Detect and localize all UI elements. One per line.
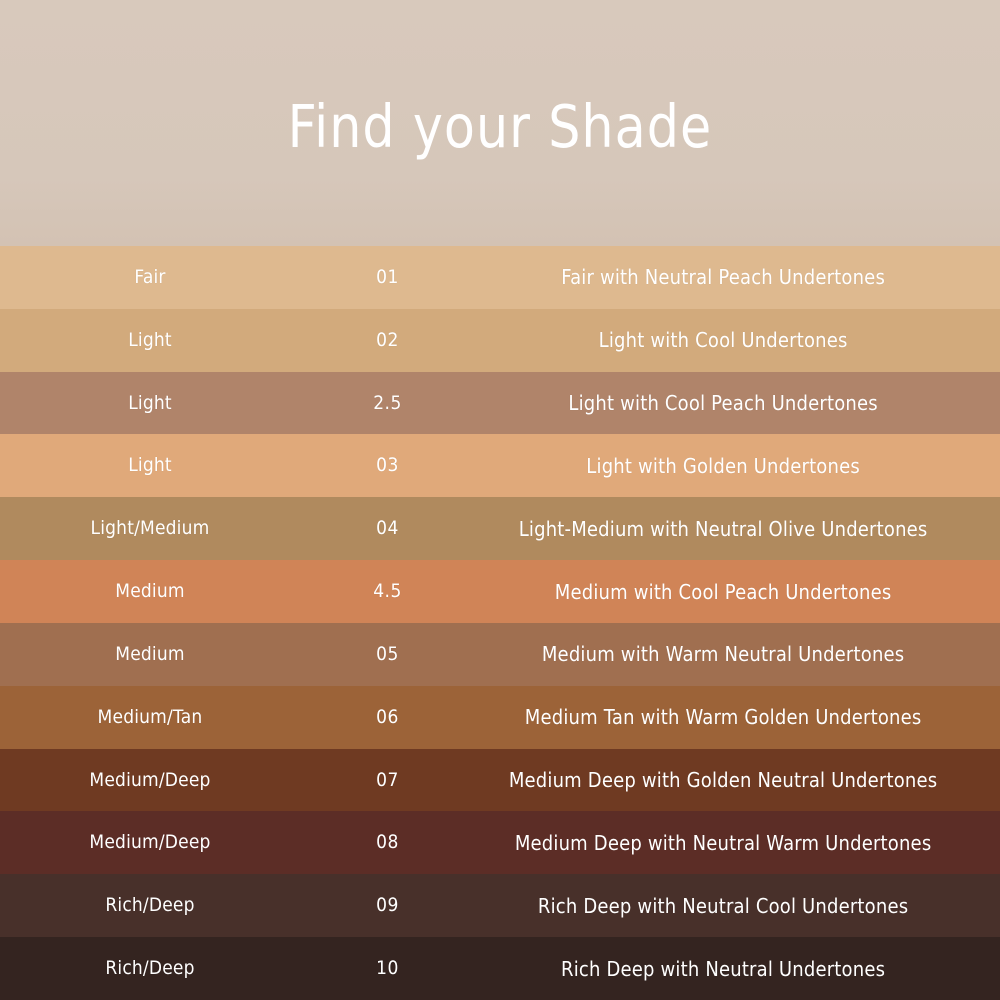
page-title: Find your Shade	[288, 91, 713, 156]
shade-row[interactable]: Medium/Tan06Medium Tan with Warm Golden …	[0, 686, 1000, 749]
shade-row[interactable]: Light2.5Light with Cool Peach Undertones	[0, 372, 1000, 435]
shade-depth-label: Light	[15, 331, 285, 350]
shade-depth-label: Light	[15, 394, 285, 413]
shade-number: 08	[309, 833, 467, 852]
shade-number: 04	[309, 519, 467, 538]
shade-depth-label: Medium	[15, 582, 285, 601]
shade-description: Light with Cool Undertones	[501, 330, 974, 350]
shade-row[interactable]: Medium4.5Medium with Cool Peach Underton…	[0, 560, 1000, 623]
shade-description: Rich Deep with Neutral Undertones	[501, 959, 974, 979]
shade-number: 03	[309, 456, 467, 475]
shade-number: 09	[309, 896, 467, 915]
shade-row[interactable]: Light02Light with Cool Undertones	[0, 309, 1000, 372]
shade-depth-label: Rich/Deep	[15, 896, 285, 915]
shade-row[interactable]: Light/Medium04Light-Medium with Neutral …	[0, 497, 1000, 560]
chart-header: Find your Shade	[0, 0, 1000, 246]
shade-description: Medium with Warm Neutral Undertones	[501, 644, 974, 664]
shade-description: Medium Deep with Neutral Warm Undertones	[501, 833, 974, 853]
shade-row[interactable]: Rich/Deep09Rich Deep with Neutral Cool U…	[0, 874, 1000, 937]
shade-description: Medium with Cool Peach Undertones	[501, 582, 974, 602]
shade-row[interactable]: Fair01Fair with Neutral Peach Undertones	[0, 246, 1000, 309]
shade-number: 01	[309, 268, 467, 287]
shade-description: Fair with Neutral Peach Undertones	[501, 267, 974, 287]
shade-description: Light with Golden Undertones	[501, 456, 974, 476]
shade-description: Medium Tan with Warm Golden Undertones	[501, 707, 974, 727]
shade-depth-label: Medium/Deep	[15, 771, 285, 790]
shade-depth-label: Fair	[15, 268, 285, 287]
shade-description: Light-Medium with Neutral Olive Underton…	[501, 519, 974, 539]
shade-depth-label: Rich/Deep	[15, 959, 285, 978]
shade-description: Medium Deep with Golden Neutral Underton…	[501, 770, 974, 790]
shade-depth-label: Medium	[15, 645, 285, 664]
shade-number: 05	[309, 645, 467, 664]
shade-number: 02	[309, 331, 467, 350]
shade-row[interactable]: Rich/Deep10Rich Deep with Neutral Undert…	[0, 937, 1000, 1000]
shade-row[interactable]: Medium05Medium with Warm Neutral Underto…	[0, 623, 1000, 686]
shade-number: 07	[309, 771, 467, 790]
shade-description: Rich Deep with Neutral Cool Undertones	[501, 896, 974, 916]
shade-number: 2.5	[309, 394, 467, 413]
shade-row-list: Fair01Fair with Neutral Peach Undertones…	[0, 246, 1000, 1000]
shade-number: 10	[309, 959, 467, 978]
shade-row[interactable]: Medium/Deep07Medium Deep with Golden Neu…	[0, 749, 1000, 812]
shade-row[interactable]: Medium/Deep08Medium Deep with Neutral Wa…	[0, 811, 1000, 874]
shade-chart: Find your Shade Fair01Fair with Neutral …	[0, 0, 1000, 1000]
shade-number: 06	[309, 708, 467, 727]
shade-depth-label: Light	[15, 456, 285, 475]
shade-depth-label: Medium/Deep	[15, 833, 285, 852]
shade-row[interactable]: Light03Light with Golden Undertones	[0, 434, 1000, 497]
shade-depth-label: Light/Medium	[15, 519, 285, 538]
shade-number: 4.5	[309, 582, 467, 601]
shade-depth-label: Medium/Tan	[15, 708, 285, 727]
shade-description: Light with Cool Peach Undertones	[501, 393, 974, 413]
